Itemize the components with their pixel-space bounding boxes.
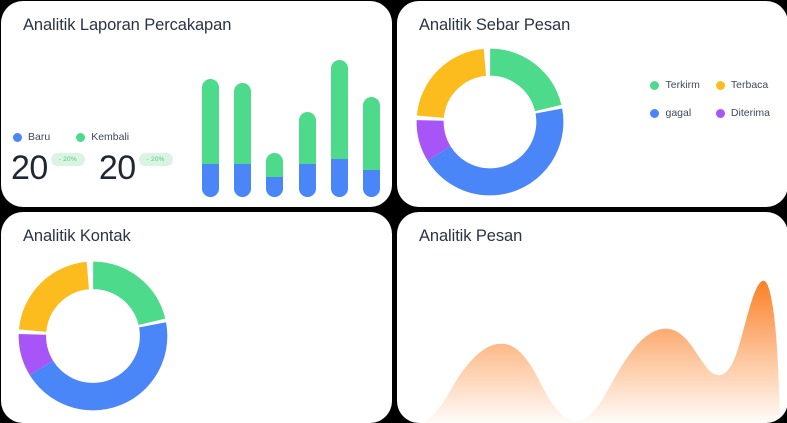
donut-segment-dihapus[interactable] <box>32 275 153 396</box>
stat-kembali: 20 - 20% <box>99 151 173 185</box>
legend-item-label: Baru <box>28 131 50 143</box>
legend-dot-icon <box>650 81 659 90</box>
legend-dot-icon <box>716 81 725 90</box>
legend-item-label: Diterima <box>731 107 770 119</box>
status-badge: - 20% <box>139 153 173 166</box>
bar-column[interactable] <box>202 79 219 197</box>
bar-chart-conversation <box>202 57 380 197</box>
legend-item-label: Terbaca <box>731 79 768 91</box>
card-contact-analytics: Analitik Kontak Ditambahkan Dihapus Memb… <box>1 212 392 423</box>
legend-item-label: gagal <box>665 107 691 119</box>
bar-segment-baru <box>234 164 251 197</box>
donut-chart-contact <box>13 256 173 416</box>
donut-segment-terbaca[interactable] <box>430 62 550 182</box>
stat-baru: 20 - 20% <box>11 151 85 185</box>
stat-value: 20 <box>99 151 136 185</box>
legend-item-label: Kembali <box>91 131 129 143</box>
legend-item-terkirm: Terkirm <box>650 79 699 91</box>
bar-segment-baru <box>266 177 283 197</box>
legend-item-gagal: gagal <box>650 107 699 119</box>
page-title-conversation: Analitik Laporan Percakapan <box>23 15 243 37</box>
legend-conversation: Baru Kembali <box>13 131 129 143</box>
legend-dot-icon <box>13 133 22 142</box>
bar-segment-baru <box>363 170 380 197</box>
legend-item-diterima: Diterima <box>716 107 770 119</box>
bar-segment-baru <box>299 164 316 197</box>
legend-item-baru: Baru <box>13 131 50 143</box>
legend-dot-icon <box>650 109 659 118</box>
bar-column[interactable] <box>331 60 348 197</box>
page-title-contact: Analitik Kontak <box>23 226 243 248</box>
legend-message-spread: Terkirm Terbaca gagal Diterima <box>650 79 770 119</box>
analytics-dashboard: Analitik Laporan Percakapan Baru Kembali… <box>0 0 787 423</box>
legend-item-terbaca: Terbaca <box>716 79 770 91</box>
area-chart-series[interactable] <box>419 281 780 423</box>
card-message-spread-analytics: Analitik Sebar Pesan Terkirm Terbaca gag… <box>397 1 787 207</box>
bar-segment-baru <box>202 164 219 197</box>
bar-column[interactable] <box>299 112 316 197</box>
stat-value: 20 <box>11 151 48 185</box>
legend-item-label: Terkirm <box>665 79 699 91</box>
page-title-message-spread: Analitik Sebar Pesan <box>419 15 639 37</box>
legend-dot-icon <box>716 109 725 118</box>
bar-column[interactable] <box>266 153 283 197</box>
area-chart-message <box>397 238 787 423</box>
legend-item-kembali: Kembali <box>76 131 129 143</box>
card-conversation-analytics: Analitik Laporan Percakapan Baru Kembali… <box>1 1 392 207</box>
status-badge: - 20% <box>51 153 85 166</box>
card-message-analytics: Analitik Pesan 10.000 <box>397 212 787 423</box>
donut-chart-message-spread <box>411 43 569 201</box>
legend-dot-icon <box>76 133 85 142</box>
bar-column[interactable] <box>363 97 380 197</box>
bar-segment-baru <box>331 159 348 197</box>
bar-column[interactable] <box>234 83 251 197</box>
stats-row: 20 - 20% 20 - 20% <box>11 151 173 185</box>
